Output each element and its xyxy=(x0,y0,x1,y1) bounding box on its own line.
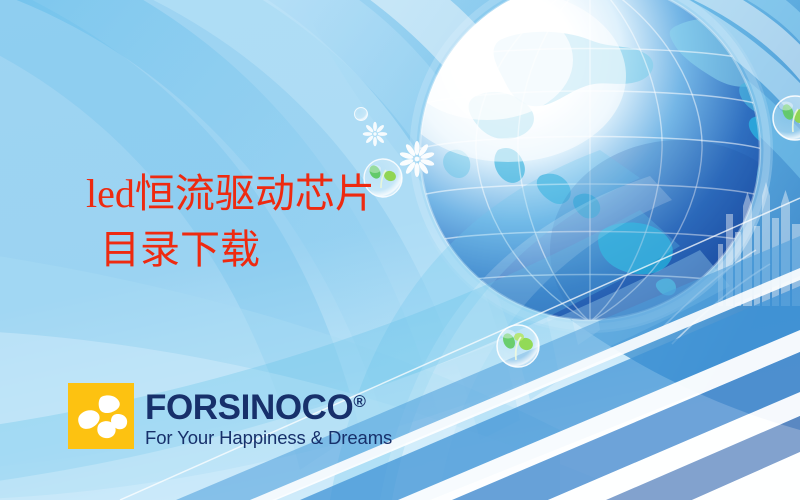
bubble-tiny-icon xyxy=(355,108,368,121)
logo-mark-icon xyxy=(68,383,134,449)
logo-text-block: FORSINOCO® For Your Happiness & Dreams xyxy=(145,384,392,448)
bubble-plant-lower-icon xyxy=(497,325,539,367)
pinwheel-icon xyxy=(68,383,134,449)
brand-logo: FORSINOCO® For Your Happiness & Dreams xyxy=(68,383,392,449)
registered-trademark-icon: ® xyxy=(353,392,366,411)
slide-canvas: led恒流驱动芯片 目录下载 FORSINOCO® For Your Happi… xyxy=(0,0,800,500)
starburst-small-icon xyxy=(363,122,388,147)
logo-tagline: For Your Happiness & Dreams xyxy=(145,427,392,448)
page-title: led恒流驱动芯片 目录下载 xyxy=(86,166,375,278)
page-title-line-2: 目录下载 xyxy=(86,222,375,278)
logo-wordmark: FORSINOCO® xyxy=(145,384,392,426)
page-title-line-1: led恒流驱动芯片 xyxy=(86,166,375,222)
logo-wordmark-text: FORSINOCO xyxy=(145,388,353,427)
